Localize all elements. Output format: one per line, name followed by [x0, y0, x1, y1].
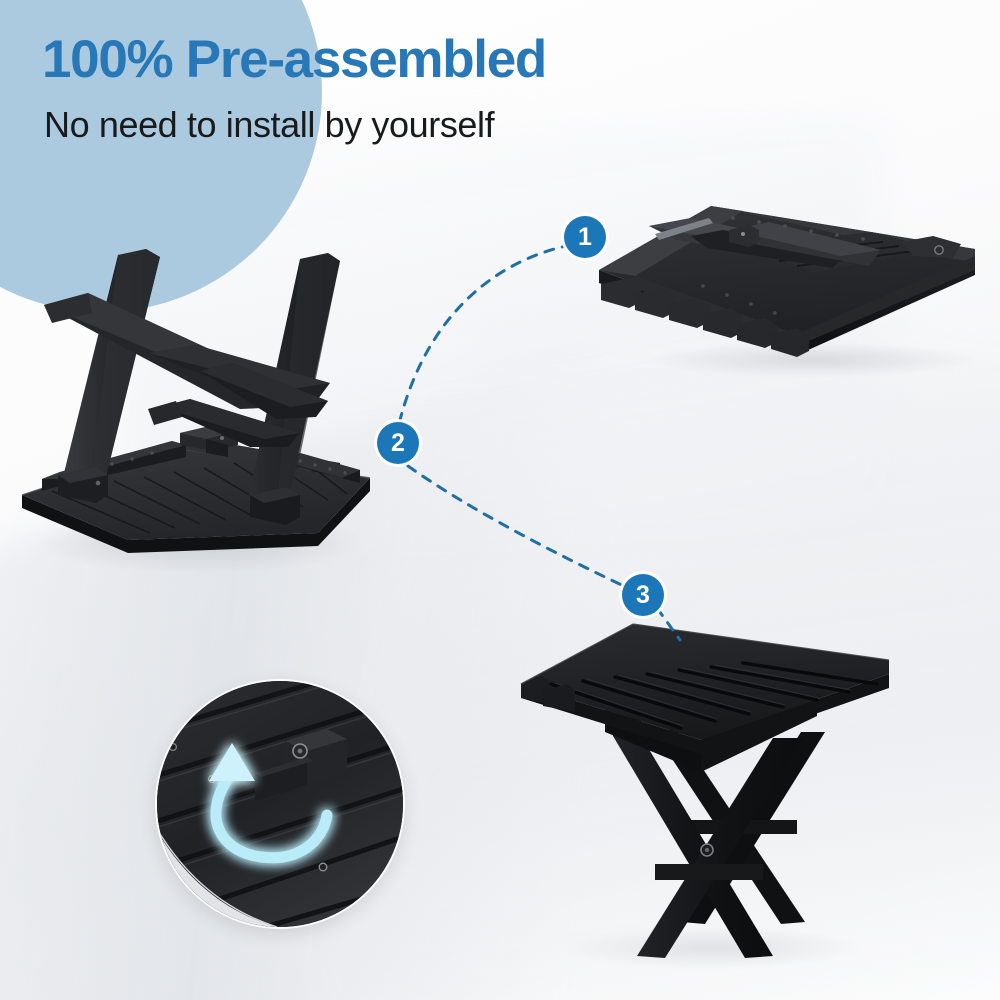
step-marker-3[interactable]: 3 — [622, 574, 664, 616]
page-subtitle: No need to install by yourself — [44, 104, 494, 146]
step-marker-2[interactable]: 2 — [377, 422, 419, 464]
step-marker-1[interactable]: 1 — [564, 216, 606, 258]
product-folded-flat — [583, 188, 995, 373]
product-assembled — [505, 612, 905, 977]
detail-inset-latch — [157, 681, 403, 927]
page-title: 100% Pre-assembled — [42, 29, 546, 90]
product-partially-unfolded — [0, 195, 400, 585]
infographic-canvas: 100% Pre-assembled No need to install by… — [0, 0, 1000, 1000]
